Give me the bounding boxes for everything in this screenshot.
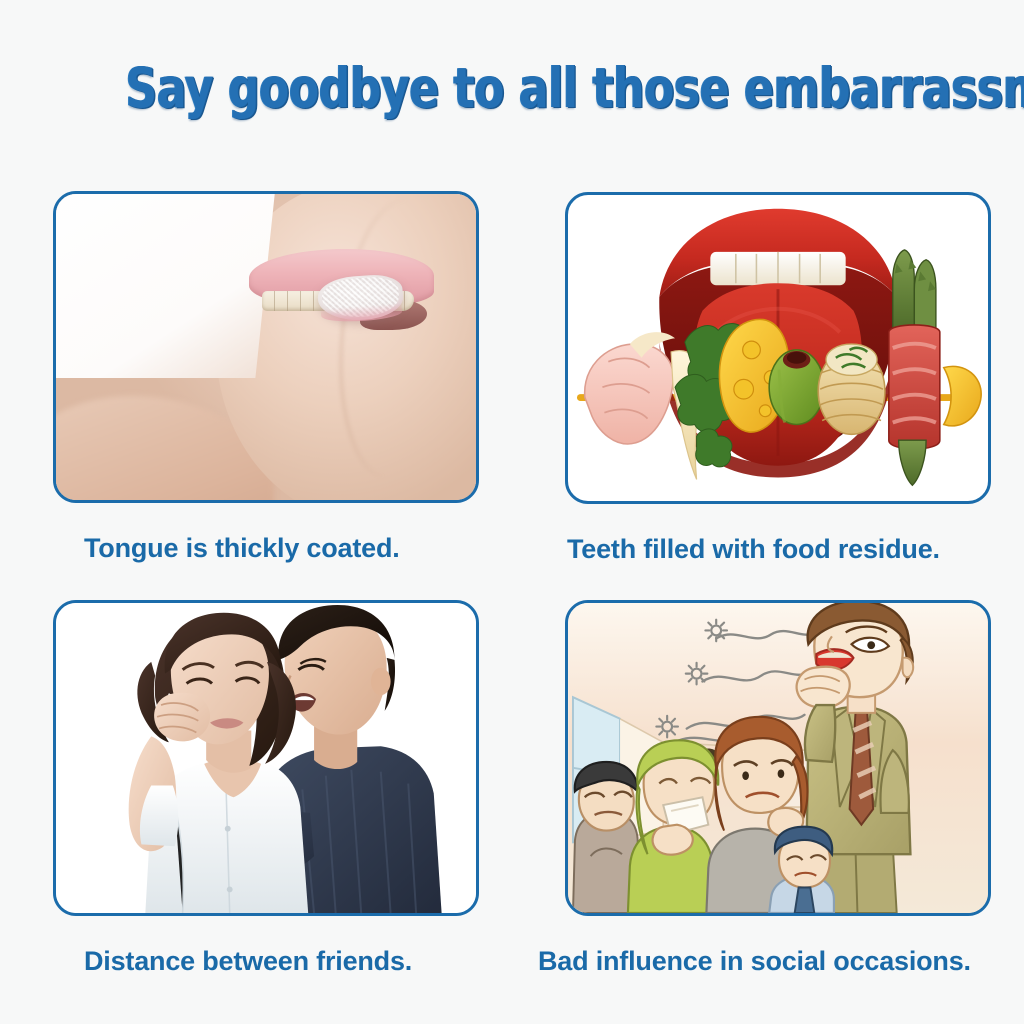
card-frame	[53, 600, 479, 916]
photo-woman-pinching-nose	[56, 603, 476, 913]
card-caption: Teeth filled with food residue.	[565, 534, 991, 565]
page-title-text: Say goodbye to all those embarrassment	[125, 57, 1024, 119]
benefit-card-grid: Tongue is thickly coated.	[53, 191, 988, 915]
card-social-occasions[interactable]: Bad influence in social occasions.	[565, 600, 991, 977]
photo-coated-tongue	[56, 194, 476, 500]
card-frame	[565, 192, 991, 504]
card-frame	[53, 191, 479, 503]
card-friend-distance[interactable]: Distance between friends.	[53, 600, 479, 977]
card-caption: Distance between friends.	[53, 946, 479, 977]
card-frame	[565, 600, 991, 916]
card-caption: Tongue is thickly coated.	[53, 533, 479, 564]
illustration-mouth-food-skewer	[568, 195, 988, 501]
cartoon-bad-breath-crowd	[568, 603, 988, 913]
card-caption: Bad influence in social occasions.	[538, 946, 991, 977]
card-food-residue[interactable]: Teeth filled with food residue.	[565, 192, 991, 565]
card-tongue-coated[interactable]: Tongue is thickly coated.	[53, 191, 479, 564]
page-title: Say goodbye to all those embarrassment	[0, 57, 1024, 119]
